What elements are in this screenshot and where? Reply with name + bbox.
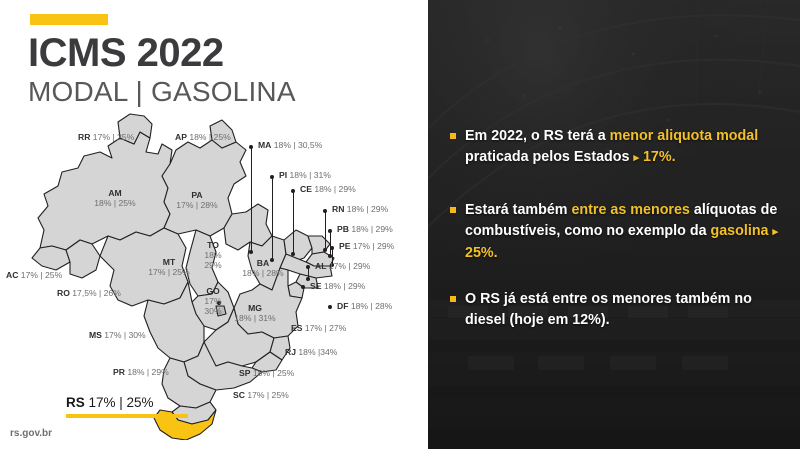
map-dot-pe-label — [330, 246, 334, 250]
map-label-pe-vals: 17% | 29% — [350, 241, 394, 251]
map-label-mg: MG 18% | 31% — [226, 303, 284, 323]
slide-root: ICMS 2022 MODAL | GASOLINA rs.gov.br — [0, 0, 800, 449]
map-dot-se-label — [301, 285, 305, 289]
map-label-ms-uf: MS — [89, 330, 102, 340]
map-label-go-vals: 17% — [204, 296, 221, 306]
bullet-item-1: Em 2022, o RS terá a menor aliquota moda… — [450, 126, 780, 169]
map-label-to-vals2: 29% — [204, 260, 221, 270]
leader-line-rn — [325, 212, 326, 250]
bullet-square-icon — [450, 296, 456, 302]
map-label-pi-uf: PI — [279, 170, 287, 180]
map-label-ac: AC 17% | 25% — [6, 270, 62, 280]
leader-line-ce — [293, 192, 294, 254]
map-label-mg-uf: MG — [248, 303, 262, 313]
map-label-to: TO 18% 29% — [196, 240, 230, 270]
map-label-pr: PR 18% | 29% — [113, 367, 169, 377]
map-label-am-uf: AM — [108, 188, 121, 198]
map-label-ba-vals: 18% | 28% — [242, 268, 283, 278]
map-dot-pb-state — [328, 254, 332, 258]
map-label-pb-vals: 18% | 29% — [349, 224, 393, 234]
map-label-go-vals2: 30% — [204, 306, 221, 316]
map-label-pi: PI 18% | 31% — [279, 170, 331, 180]
map-label-rj: RJ 18% |34% — [285, 347, 337, 357]
map-label-se: SE 18% | 29% — [310, 281, 365, 291]
rs-underline — [66, 414, 188, 418]
map-label-am-vals: 18% | 25% — [94, 198, 135, 208]
map-dot-al-label — [306, 265, 310, 269]
map-label-pi-vals: 18% | 31% — [287, 170, 331, 180]
map-label-sp: SP 18% | 25% — [239, 368, 294, 378]
map-label-pr-uf: PR — [113, 367, 125, 377]
map-label-ce-uf: CE — [300, 184, 312, 194]
left-panel: ICMS 2022 MODAL | GASOLINA rs.gov.br — [0, 0, 428, 449]
map-dot-pi-label — [270, 175, 274, 179]
brazil-map-svg — [0, 110, 428, 440]
map-label-ma: MA 18% | 30,5% — [258, 140, 322, 150]
map-label-rs-uf: RS — [66, 395, 85, 410]
leader-line-pi — [272, 178, 273, 260]
map-label-to-vals: 18% — [204, 250, 221, 260]
map-label-rr-uf: RR — [78, 132, 90, 142]
map-label-df-vals: 18% | 28% — [348, 301, 392, 311]
map-label-al: AL 17% | 29% — [315, 261, 370, 271]
map-dot-rn-label — [323, 209, 327, 213]
map-label-rj-vals: 18% |34% — [296, 347, 337, 357]
map-label-go-uf: GO — [206, 286, 219, 296]
map-label-pe: PE 17% | 29% — [339, 241, 394, 251]
bullet-text-2: Estará também entre as menores alíquotas… — [465, 200, 780, 264]
map-label-ro: RO 17,5% | 26% — [57, 288, 121, 298]
map-dot-ma-label — [249, 145, 253, 149]
map-label-rs: RS 17% | 25% — [66, 395, 154, 411]
map-label-rr-vals: 17% | 25% — [90, 132, 134, 142]
map-label-ba: BA 18% | 28% — [234, 258, 292, 278]
map-label-es-vals: 17% | 27% — [302, 323, 346, 333]
accent-bar — [30, 14, 108, 25]
map-label-ma-vals: 18% | 30,5% — [271, 140, 322, 150]
brazil-map — [0, 110, 428, 440]
map-dot-rn-state — [323, 248, 327, 252]
map-label-ro-uf: RO — [57, 288, 70, 298]
map-label-df-uf: DF — [337, 301, 348, 311]
map-label-ms: MS 17% | 30% — [89, 330, 146, 340]
map-label-sc-uf: SC — [233, 390, 245, 400]
map-label-mt-vals: 17% | 25% — [148, 267, 189, 277]
map-label-pe-uf: PE — [339, 241, 350, 251]
map-label-ac-uf: AC — [6, 270, 18, 280]
map-label-pb-uf: PB — [337, 224, 349, 234]
bullet-list: Em 2022, o RS terá a menor aliquota moda… — [428, 0, 800, 449]
map-label-rr: RR 17% | 25% — [78, 132, 134, 142]
map-label-sc: SC 17% | 25% — [233, 390, 289, 400]
page-title: ICMS 2022 — [28, 33, 224, 73]
map-dot-pb-label — [328, 229, 332, 233]
map-label-se-vals: 18% | 29% — [321, 281, 365, 291]
map-label-se-uf: SE — [310, 281, 321, 291]
map-label-mg-vals: 18% | 31% — [234, 313, 275, 323]
map-dot-ce-state — [291, 252, 295, 256]
map-label-rj-uf: RJ — [285, 347, 296, 357]
map-label-es: ES 17% | 27% — [291, 323, 346, 333]
map-label-mt: MT 17% | 25% — [140, 257, 198, 277]
state-rn — [308, 236, 330, 254]
map-label-al-uf: AL — [315, 261, 326, 271]
map-label-ap-uf: AP — [175, 132, 187, 142]
bullet-item-2: Estará também entre as menores alíquotas… — [450, 200, 780, 264]
leader-line-ma — [251, 148, 252, 252]
map-label-ro-vals: 17,5% | 26% — [70, 288, 121, 298]
map-label-es-uf: ES — [291, 323, 302, 333]
map-label-sc-vals: 17% | 25% — [245, 390, 289, 400]
map-label-ma-uf: MA — [258, 140, 271, 150]
map-label-sp-uf: SP — [239, 368, 250, 378]
map-label-ac-vals: 17% | 25% — [18, 270, 62, 280]
map-label-mt-uf: MT — [163, 257, 175, 267]
map-dot-ce-label — [291, 189, 295, 193]
map-label-ap: AP 18% | 25% — [175, 132, 231, 142]
map-label-am: AM 18% | 25% — [86, 188, 144, 208]
map-label-sp-vals: 18% | 25% — [250, 368, 294, 378]
bullet-text-3: O RS já está entre os menores também no … — [465, 289, 780, 332]
leader-line-pb — [330, 232, 331, 256]
map-label-rs-vals: 17% | 25% — [85, 395, 154, 410]
bullet-item-3: O RS já está entre os menores também no … — [450, 289, 780, 332]
map-label-ba-uf: BA — [257, 258, 269, 268]
bullet-square-icon — [450, 133, 456, 139]
page-subtitle: MODAL | GASOLINA — [28, 78, 296, 106]
bullet-text-1: Em 2022, o RS terá a menor aliquota moda… — [465, 126, 780, 169]
map-label-pa-vals: 17% | 28% — [176, 200, 217, 210]
map-label-ms-vals: 17% | 30% — [102, 330, 146, 340]
map-label-rn-vals: 18% | 29% — [344, 204, 388, 214]
map-label-al-vals: 17% | 29% — [326, 261, 370, 271]
right-panel: Em 2022, o RS terá a menor aliquota moda… — [428, 0, 800, 449]
map-label-ce: CE 18% | 29% — [300, 184, 356, 194]
bullet-square-icon — [450, 207, 456, 213]
map-dot-df-label — [328, 305, 332, 309]
state-ro — [66, 240, 100, 278]
map-label-rn-uf: RN — [332, 204, 344, 214]
map-label-pa-uf: PA — [191, 190, 202, 200]
map-dot-ma-state — [249, 250, 253, 254]
map-label-ap-vals: 18% | 25% — [187, 132, 231, 142]
map-label-pa: PA 17% | 28% — [168, 190, 226, 210]
map-label-rn: RN 18% | 29% — [332, 204, 388, 214]
map-label-ce-vals: 18% | 29% — [312, 184, 356, 194]
map-label-df: DF 18% | 28% — [337, 301, 392, 311]
state-ac — [32, 246, 70, 270]
map-label-to-uf: TO — [207, 240, 219, 250]
map-label-pb: PB 18% | 29% — [337, 224, 393, 234]
map-label-pr-vals: 18% | 29% — [125, 367, 169, 377]
